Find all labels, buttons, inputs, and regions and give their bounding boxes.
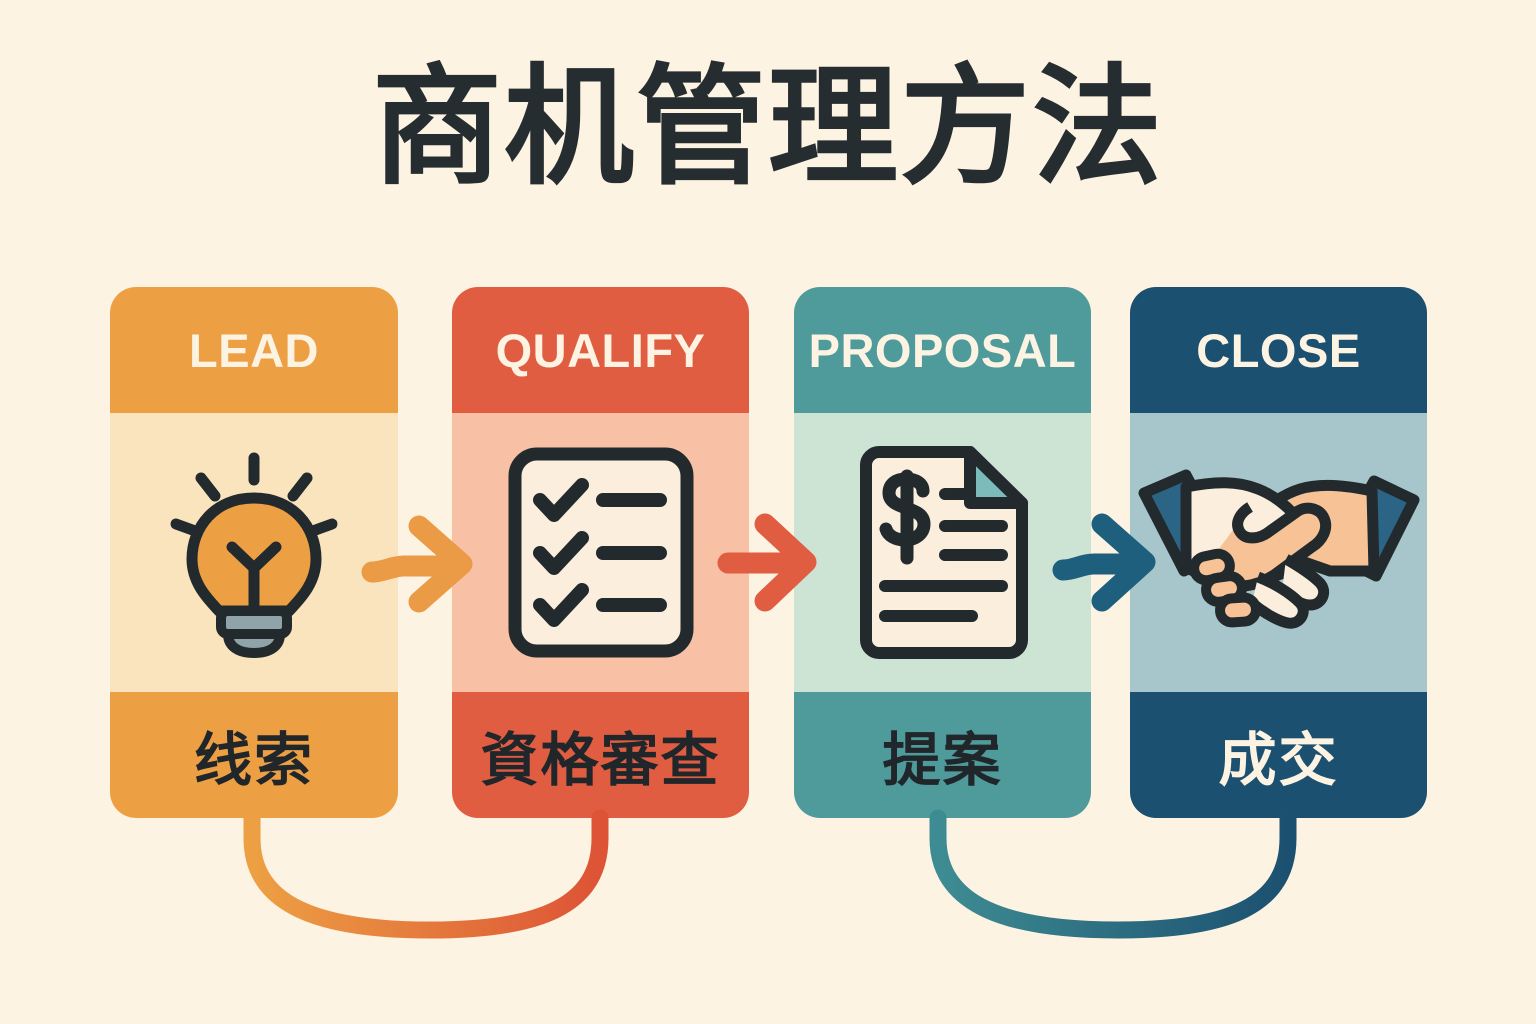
- stage-header-proposal: PROPOSAL: [794, 287, 1091, 413]
- page-title: 商机管理方法: [0, 52, 1536, 202]
- stage-card-qualify[interactable]: QUALIFY 資格審查: [452, 287, 749, 818]
- stage-header-close: CLOSE: [1130, 287, 1427, 413]
- stage-label-en-close: CLOSE: [1196, 323, 1360, 378]
- infographic-canvas: 商机管理方法 LEAD: [0, 0, 1536, 1024]
- invoice-document-icon: [838, 445, 1048, 660]
- stage-label-en-lead: LEAD: [189, 323, 319, 378]
- stage-label-en-qualify: QUALIFY: [496, 323, 706, 378]
- stage-label-en-proposal: PROPOSAL: [809, 323, 1077, 378]
- curve-proposal-to-close: [938, 818, 1288, 930]
- stage-card-lead[interactable]: LEAD: [110, 287, 398, 818]
- stage-label-zh-lead: 线索: [194, 713, 314, 797]
- stage-label-zh-qualify: 資格審查: [480, 713, 720, 797]
- stage-label-zh-proposal: 提案: [882, 713, 1002, 797]
- stage-header-lead: LEAD: [110, 287, 398, 413]
- stage-label-zh-close: 成交: [1218, 713, 1338, 797]
- stage-body-lead: [110, 413, 398, 692]
- stage-footer-close: 成交: [1130, 692, 1427, 818]
- stage-body-qualify: [452, 413, 749, 692]
- stage-footer-lead: 线索: [110, 692, 398, 818]
- curve-lead-to-qualify: [252, 818, 600, 930]
- handshake-icon: [1134, 453, 1424, 653]
- stage-card-proposal[interactable]: PROPOSAL: [794, 287, 1091, 818]
- stage-body-proposal: [794, 413, 1091, 692]
- stage-footer-qualify: 資格審查: [452, 692, 749, 818]
- stage-card-close[interactable]: CLOSE: [1130, 287, 1427, 818]
- stage-body-close: [1130, 413, 1427, 692]
- stage-header-qualify: QUALIFY: [452, 287, 749, 413]
- checklist-icon: [496, 445, 706, 660]
- stage-footer-proposal: 提案: [794, 692, 1091, 818]
- lightbulb-icon: [149, 445, 359, 660]
